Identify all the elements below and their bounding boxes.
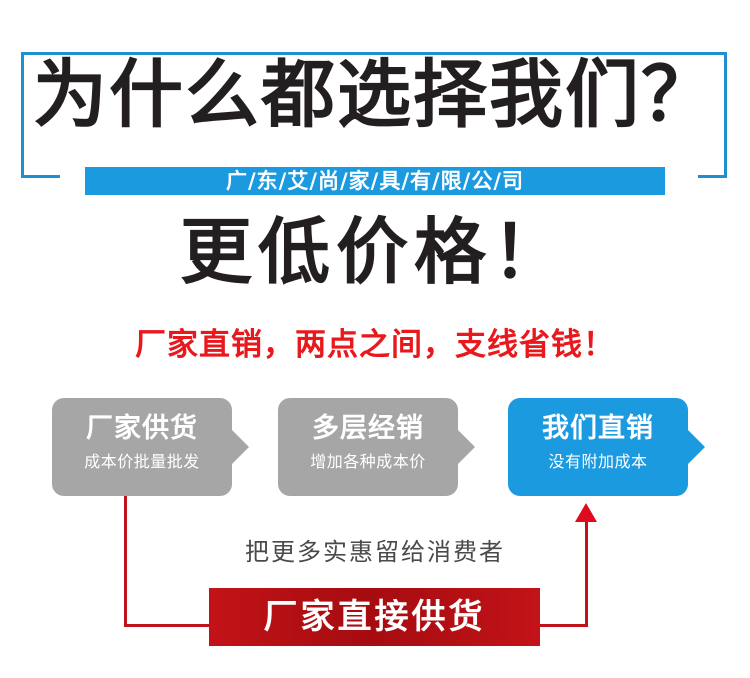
arrow-nub-icon xyxy=(687,429,705,465)
flow-box-title: 多层经销 xyxy=(278,412,458,446)
main-question-title: 为什么都选择我们？ xyxy=(0,58,750,132)
connector-arrow-up-icon xyxy=(575,503,597,522)
company-name-banner: 广/东/艾/尚/家/具/有/限/公/司 xyxy=(85,167,665,195)
flow-box-factory-supply: 厂家供货 成本价批量批发 xyxy=(52,398,232,496)
arrow-nub-icon xyxy=(457,429,475,465)
flow-box-title: 我们直销 xyxy=(508,412,688,446)
flow-box-subtitle: 增加各种成本价 xyxy=(278,452,458,473)
arrow-nub-icon xyxy=(231,429,249,465)
headline-lower-price: 更低价格！ xyxy=(0,216,750,288)
subtitle-direct-sale: 厂家直销，两点之间，支线省钱！ xyxy=(0,327,750,364)
factory-direct-supply-banner: 厂家直接供货 xyxy=(209,588,540,646)
flow-box-subtitle: 没有附加成本 xyxy=(508,452,688,473)
flow-box-we-direct-sale: 我们直销 没有附加成本 xyxy=(508,398,688,496)
consumer-benefit-text: 把更多实惠留给消费者 xyxy=(0,532,750,567)
flow-box-multi-layer-distribution: 多层经销 增加各种成本价 xyxy=(278,398,458,496)
flow-box-title: 厂家供货 xyxy=(52,412,232,446)
supply-chain-flow: 厂家供货 成本价批量批发 多层经销 增加各种成本价 我们直销 没有附加成本 xyxy=(0,398,750,508)
flow-box-subtitle: 成本价批量批发 xyxy=(52,452,232,473)
